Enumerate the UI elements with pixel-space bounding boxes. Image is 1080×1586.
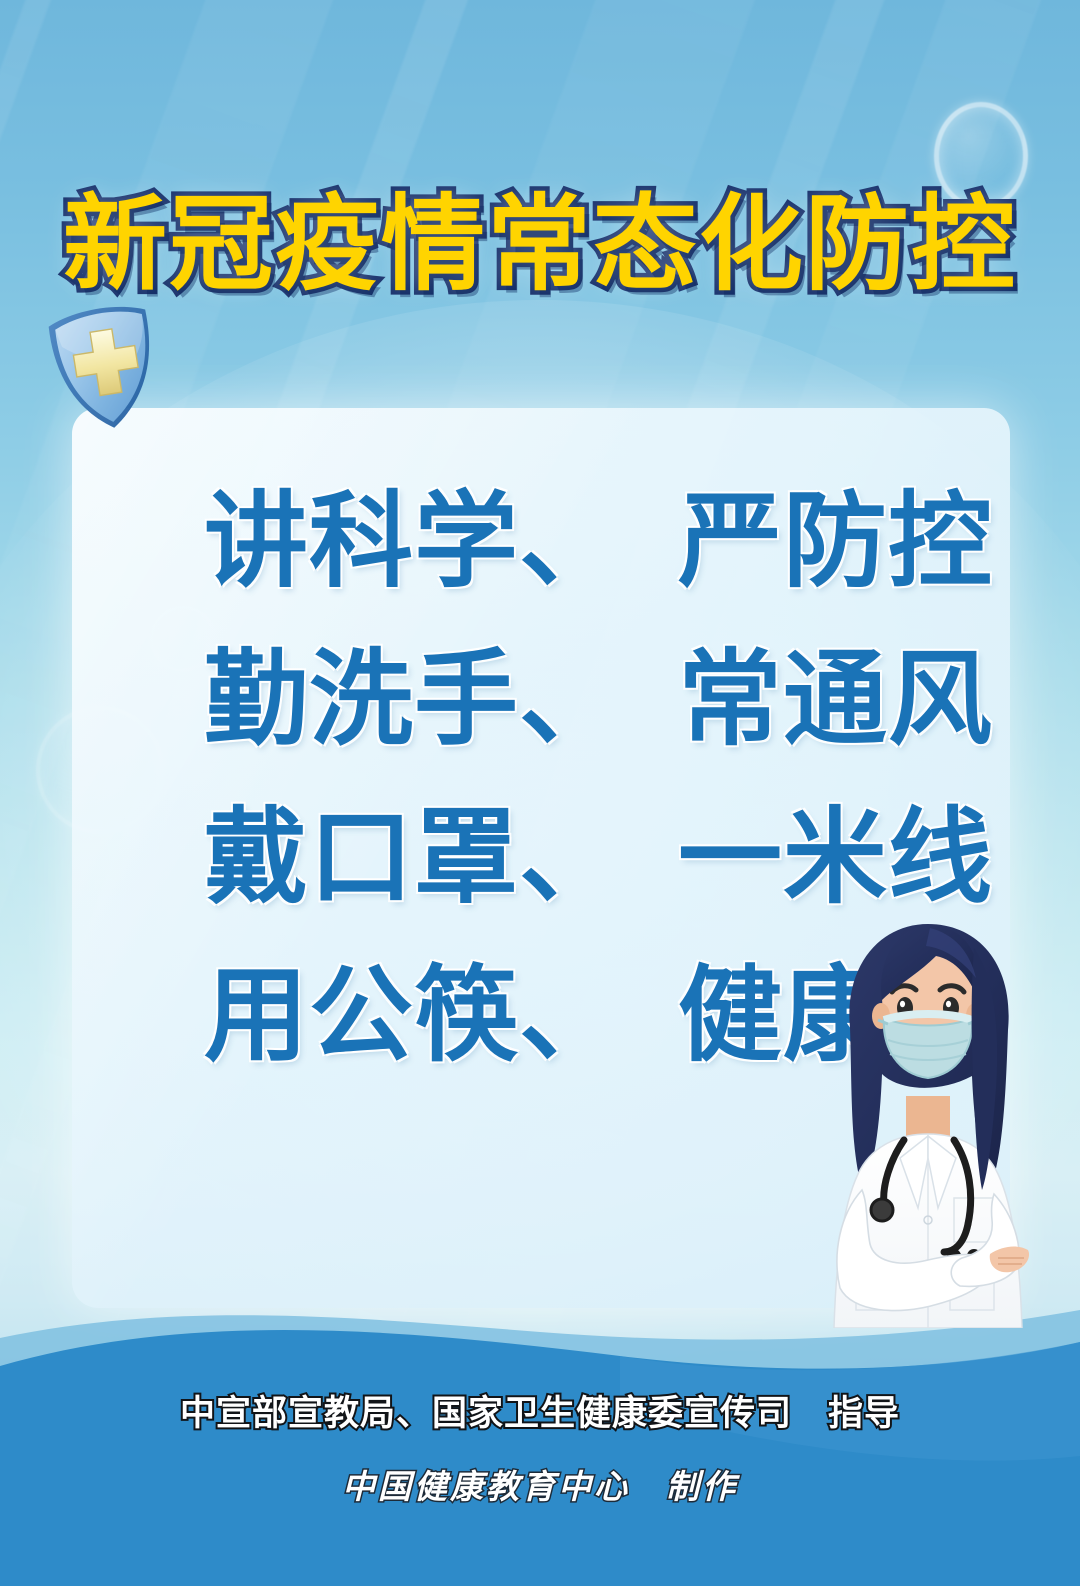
female-doctor-icon xyxy=(778,908,1078,1328)
footer-line-guidance: 中宣部宣教局、国家卫生健康委宣传司 指导 xyxy=(0,1385,1080,1436)
slogan-right: 一米线 xyxy=(678,805,993,909)
page-title-text: 新冠疫情常态化防控 xyxy=(63,192,1017,296)
footer: 中宣部宣教局、国家卫生健康委宣传司 指导 中国健康教育中心 制作 xyxy=(0,1385,1080,1508)
slogan-right: 常通风 xyxy=(678,647,993,751)
slogan-line: 勤洗手、 常通风 xyxy=(72,620,1010,778)
page-title: 新冠疫情常态化防控 xyxy=(0,192,1080,296)
slogan-left: 讲科学、 xyxy=(204,489,624,593)
slogan-left: 用公筷、 xyxy=(204,963,624,1067)
poster-canvas: 新冠疫情常态化防控 xyxy=(0,0,1080,1586)
slogan-right: 严防控 xyxy=(678,489,993,593)
footer-line-producer: 中国健康教育中心 制作 xyxy=(0,1460,1080,1508)
slogan-line: 讲科学、 严防控 xyxy=(72,462,1010,620)
slogan-left: 勤洗手、 xyxy=(204,647,624,751)
slogan-left: 戴口罩、 xyxy=(204,805,624,909)
shield-icon xyxy=(38,296,178,442)
